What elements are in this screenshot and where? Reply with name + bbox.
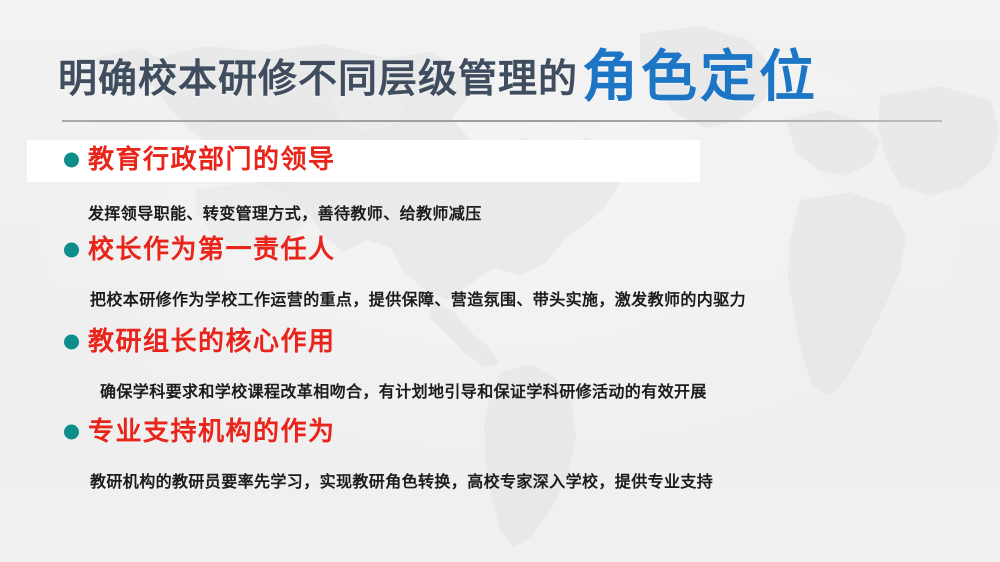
bullet-heading-row-2: 校长作为第一责任人 bbox=[0, 228, 1000, 272]
bullet-heading-2: 校长作为第一责任人 bbox=[88, 237, 336, 263]
bullet-group-2: 校长作为第一责任人 把校本研修作为学校工作运营的重点，提供保障、营造氛围、带头实… bbox=[0, 228, 1000, 272]
bullet-subtext-1: 发挥领导职能、转变管理方式，善待教师、给教师减压 bbox=[88, 204, 482, 223]
bullet-group-1: 教育行政部门的领导 发挥领导职能、转变管理方式，善待教师、给教师减压 bbox=[0, 138, 1000, 182]
bullet-heading-row-4: 专业支持机构的作为 bbox=[0, 410, 1000, 454]
bullet-heading-4: 专业支持机构的作为 bbox=[88, 419, 336, 445]
bullet-subtext-4: 教研机构的教研员要率先学习，实现教研角色转换，高校专家深入学校，提供专业支持 bbox=[90, 472, 713, 491]
bullet-group-4: 专业支持机构的作为 教研机构的教研员要率先学习，实现教研角色转换，高校专家深入学… bbox=[0, 410, 1000, 454]
bullet-subtext-3: 确保学科要求和学校课程改革相吻合，有计划地引导和保证学科研修活动的有效开展 bbox=[100, 382, 707, 401]
filled-circle-bullet-icon bbox=[64, 425, 79, 440]
bullet-sub-wrap-3: 确保学科要求和学校课程改革相吻合，有计划地引导和保证学科研修活动的有效开展 bbox=[100, 382, 707, 401]
bullet-heading-row-1: 教育行政部门的领导 bbox=[0, 138, 1000, 182]
bullet-heading-1: 教育行政部门的领导 bbox=[88, 147, 336, 173]
bullet-sub-wrap-2: 把校本研修作为学校工作运营的重点，提供保障、营造氛围、带头实施，激发教师的内驱力 bbox=[90, 290, 746, 309]
filled-circle-bullet-icon bbox=[64, 153, 79, 168]
slide-title: 明确校本研修不同层级管理的 角色定位 bbox=[58, 46, 818, 102]
bullet-heading-3: 教研组长的核心作用 bbox=[88, 329, 336, 355]
filled-circle-bullet-icon bbox=[64, 335, 79, 350]
title-main-text: 明确校本研修不同层级管理的 bbox=[58, 60, 578, 99]
filled-circle-bullet-icon bbox=[64, 243, 79, 258]
presentation-slide: 明确校本研修不同层级管理的 角色定位 教育行政部门的领导 发挥领导职能、转变管理… bbox=[0, 0, 1000, 562]
title-divider-rule bbox=[62, 120, 942, 122]
bullet-group-3: 教研组长的核心作用 确保学科要求和学校课程改革相吻合，有计划地引导和保证学科研修… bbox=[0, 320, 1000, 364]
bullet-sub-wrap-1: 发挥领导职能、转变管理方式，善待教师、给教师减压 bbox=[88, 204, 482, 223]
title-accent-text: 角色定位 bbox=[582, 50, 818, 106]
bullet-subtext-2: 把校本研修作为学校工作运营的重点，提供保障、营造氛围、带头实施，激发教师的内驱力 bbox=[90, 290, 746, 309]
bullet-heading-row-3: 教研组长的核心作用 bbox=[0, 320, 1000, 364]
bullet-sub-wrap-4: 教研机构的教研员要率先学习，实现教研角色转换，高校专家深入学校，提供专业支持 bbox=[90, 472, 713, 491]
